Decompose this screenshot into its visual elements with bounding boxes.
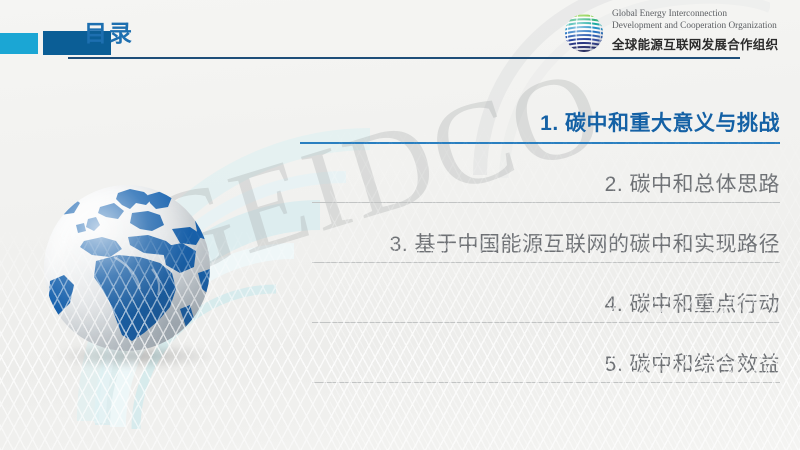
geidco-globe-logo-icon xyxy=(562,11,606,55)
page-title: 目录 xyxy=(84,22,134,45)
organization-logo: Global Energy Interconnection Developmen… xyxy=(562,9,800,57)
header-accent-square-light xyxy=(0,33,38,54)
logo-text-block: Global Energy Interconnection Developmen… xyxy=(612,9,778,53)
logo-chinese-name: 全球能源互联网发展合作组织 xyxy=(612,34,778,53)
background-lattice-texture-right xyxy=(330,120,800,450)
logo-english-line-1: Global Energy Interconnection xyxy=(612,9,778,21)
slide-canvas: GEIDCO 目录 xyxy=(0,0,800,450)
logo-english-line-2: Development and Cooperation Organization xyxy=(612,21,778,33)
header-divider xyxy=(68,57,740,59)
